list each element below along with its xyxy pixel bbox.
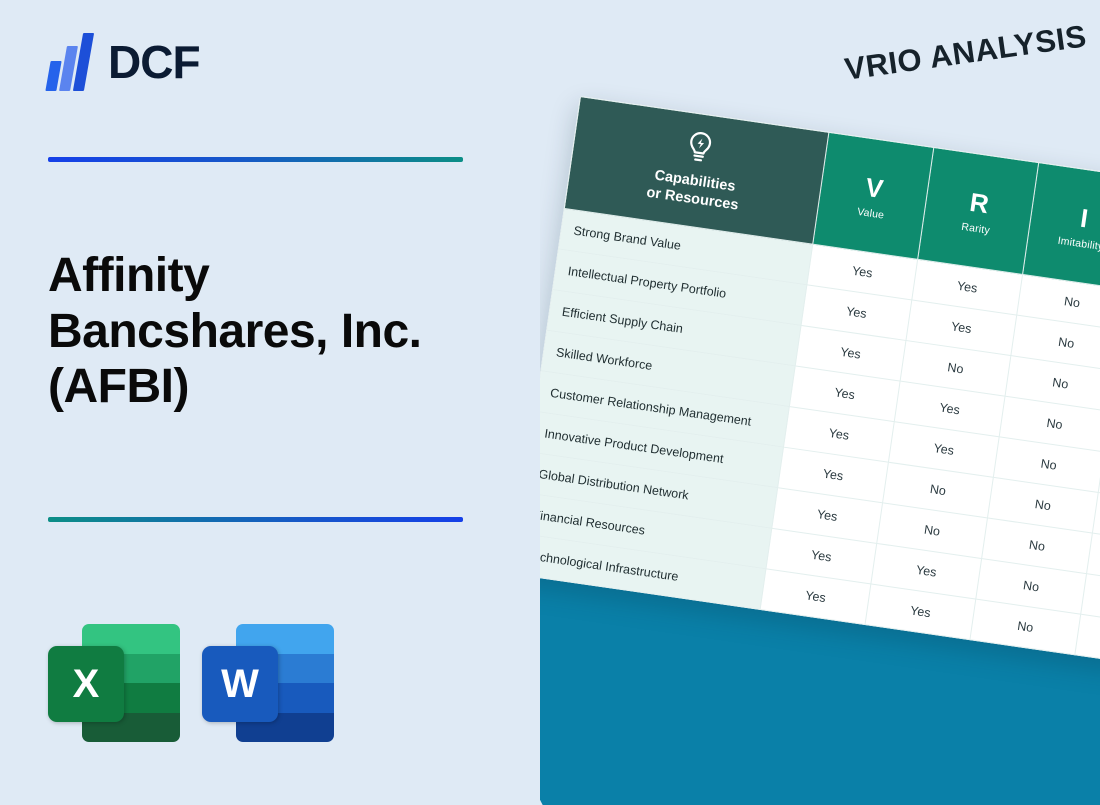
divider-top	[48, 157, 463, 162]
page-title-line-1: Affinity	[48, 248, 518, 304]
vrio-title: VRIO ANALYSIS	[842, 18, 1088, 88]
page-title-line-3: (AFBI)	[48, 359, 518, 415]
column-letter-v: V	[825, 168, 925, 208]
download-icons: X W	[48, 622, 334, 744]
word-badge-label: W	[202, 646, 278, 722]
column-header-value: V Value	[813, 132, 934, 259]
word-file-icon[interactable]: W	[202, 622, 334, 744]
page-title-line-2: Bancshares, Inc.	[48, 304, 518, 360]
column-name-imitability: Imitability	[1032, 231, 1100, 257]
excel-badge-label: X	[48, 646, 124, 722]
vrio-table-card: Capabilities or Resources V Value R Rari…	[540, 96, 1100, 663]
dcf-logo[interactable]: DCF	[48, 33, 200, 91]
poster-canvas: DCF Affinity Bancshares, Inc. (AFBI) X W	[0, 0, 1100, 805]
page-title: Affinity Bancshares, Inc. (AFBI)	[48, 248, 518, 415]
organization-cell	[1075, 615, 1100, 663]
column-letter-r: R	[930, 183, 1030, 223]
excel-file-icon[interactable]: X	[48, 622, 180, 744]
left-panel: DCF Affinity Bancshares, Inc. (AFBI) X W	[0, 0, 540, 805]
divider-bottom	[48, 517, 463, 522]
column-header-rarity: R Rarity	[918, 147, 1039, 274]
lightbulb-icon	[683, 129, 718, 167]
brand-name: DCF	[108, 39, 200, 85]
right-panel: VRIO ANALYSIS Capabilities or Resources	[540, 0, 1100, 805]
dcf-bars-logo-icon	[48, 33, 94, 91]
vrio-table: Capabilities or Resources V Value R Rari…	[540, 96, 1100, 663]
